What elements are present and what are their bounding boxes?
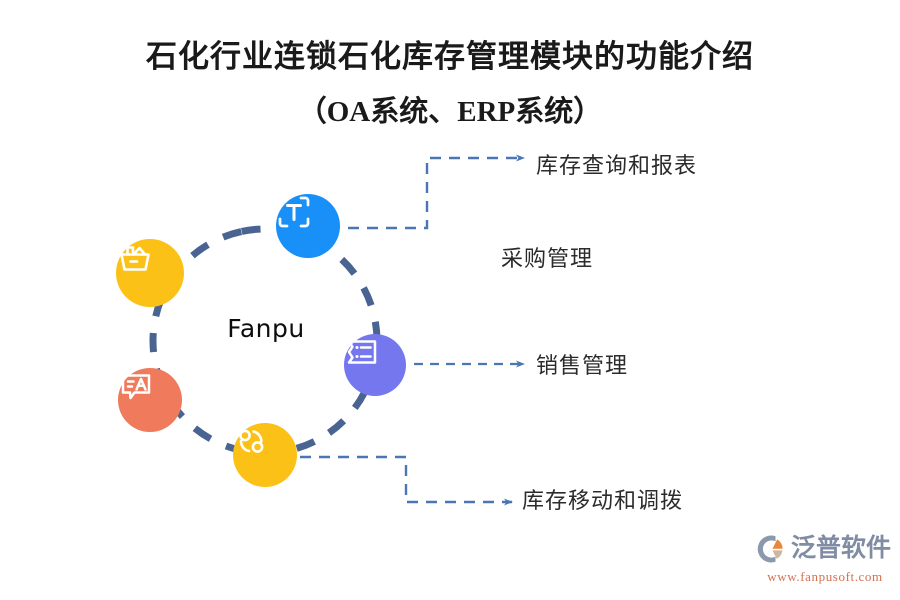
label-sales[interactable]: 销售管理 <box>536 348 628 380</box>
logo-url-text: www.fanpusoft.com <box>755 569 895 585</box>
slide-canvas: 石化行业连锁石化库存管理模块的功能介绍 （OA系统、ERP系统） <box>0 0 900 600</box>
label-purchase[interactable]: 采购管理 <box>501 241 593 273</box>
label-stock-move[interactable]: 库存移动和调拨 <box>522 483 683 515</box>
fanpu-logo[interactable]: 泛普软件 www.fanpusoft.com <box>755 530 895 592</box>
connector-inventory-query <box>348 158 524 228</box>
node-text-scan[interactable] <box>276 194 340 258</box>
connector-stock-move <box>300 457 512 502</box>
circular-diagram: Fanpu <box>0 0 900 600</box>
node-translate[interactable] <box>118 368 182 432</box>
node-basket[interactable] <box>116 239 184 307</box>
node-sync[interactable] <box>233 423 297 487</box>
logo-row: 泛普软件 <box>755 530 895 568</box>
diagram-center-label: Fanpu <box>200 314 332 343</box>
label-inventory-query[interactable]: 库存查询和报表 <box>536 148 697 180</box>
node-ticket[interactable] <box>344 334 406 396</box>
fanpu-logo-mark-icon <box>755 533 789 565</box>
logo-brand-text: 泛普软件 <box>791 533 891 565</box>
